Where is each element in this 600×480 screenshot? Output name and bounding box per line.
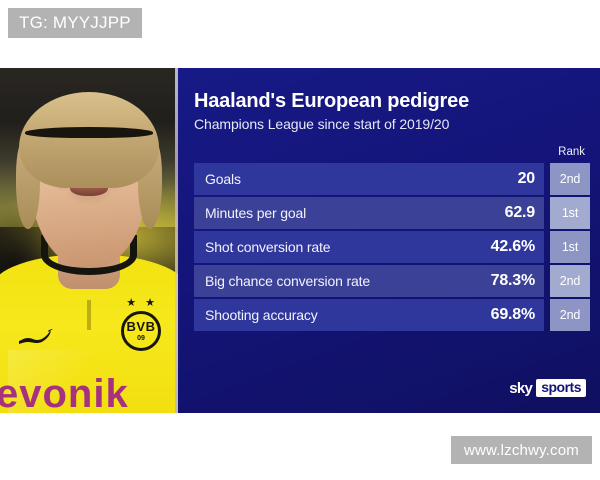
- table-row: Big chance conversion rate 78.3% 2nd: [194, 265, 590, 297]
- watermark-top-left: TG: MYYJJPP: [8, 8, 142, 38]
- stat-label: Shooting accuracy: [205, 307, 318, 323]
- watermark-bottom-right: www.lzchwy.com: [451, 436, 592, 464]
- stat-value: 62.9: [505, 204, 535, 222]
- table-row: Goals 20 2nd: [194, 163, 590, 195]
- stat-main-cell: Goals 20: [194, 163, 544, 195]
- club-crest-number: 09: [137, 335, 145, 342]
- page-title: Haaland's European pedigree: [194, 90, 590, 113]
- table-row: Minutes per goal 62.9 1st: [194, 197, 590, 229]
- table-row: Shooting accuracy 69.8% 2nd: [194, 299, 590, 331]
- club-stars-icon: ★ ★: [126, 296, 158, 309]
- stat-value: 20: [518, 170, 535, 188]
- shirt-sponsor-text: evonik: [0, 376, 178, 413]
- stat-label: Big chance conversion rate: [205, 273, 370, 289]
- puma-icon: [18, 328, 60, 344]
- rank-column-header: Rank: [194, 146, 590, 158]
- player-headband: [25, 127, 153, 138]
- stat-main-cell: Shooting accuracy 69.8%: [194, 299, 544, 331]
- club-crest-text: BVB: [127, 320, 156, 333]
- status-badge: 2nd: [550, 299, 590, 331]
- stats-graphic-card: ★ ★ BVB 09 evonik Haaland's European ped…: [0, 68, 600, 413]
- stats-list: Goals 20 2nd Minutes per goal 62.9 1st S…: [194, 163, 590, 331]
- status-badge: 2nd: [550, 163, 590, 195]
- page-subtitle: Champions League since start of 2019/20: [194, 116, 590, 132]
- table-row: Shot conversion rate 42.6% 1st: [194, 231, 590, 263]
- player-photo: ★ ★ BVB 09 evonik: [0, 68, 178, 413]
- status-badge: 1st: [550, 231, 590, 263]
- stat-main-cell: Shot conversion rate 42.6%: [194, 231, 544, 263]
- stat-label: Minutes per goal: [205, 205, 306, 221]
- status-badge: 2nd: [550, 265, 590, 297]
- shirt-placket: [87, 300, 91, 330]
- stats-panel: Haaland's European pedigree Champions Le…: [178, 68, 600, 413]
- stat-value: 42.6%: [491, 238, 535, 256]
- club-crest-icon: BVB 09: [121, 311, 161, 351]
- stat-value: 69.8%: [491, 306, 535, 324]
- stat-label: Shot conversion rate: [205, 239, 330, 255]
- sky-sports-logo: sky sports: [509, 379, 586, 397]
- stat-value: 78.3%: [491, 272, 535, 290]
- sports-wordmark: sports: [536, 379, 586, 397]
- player-chin: [63, 188, 115, 206]
- stat-main-cell: Big chance conversion rate 78.3%: [194, 265, 544, 297]
- sky-wordmark: sky: [509, 380, 532, 397]
- stat-label: Goals: [205, 171, 241, 187]
- panel-headings: Haaland's European pedigree Champions Le…: [194, 90, 590, 132]
- status-badge: 1st: [550, 197, 590, 229]
- stat-main-cell: Minutes per goal 62.9: [194, 197, 544, 229]
